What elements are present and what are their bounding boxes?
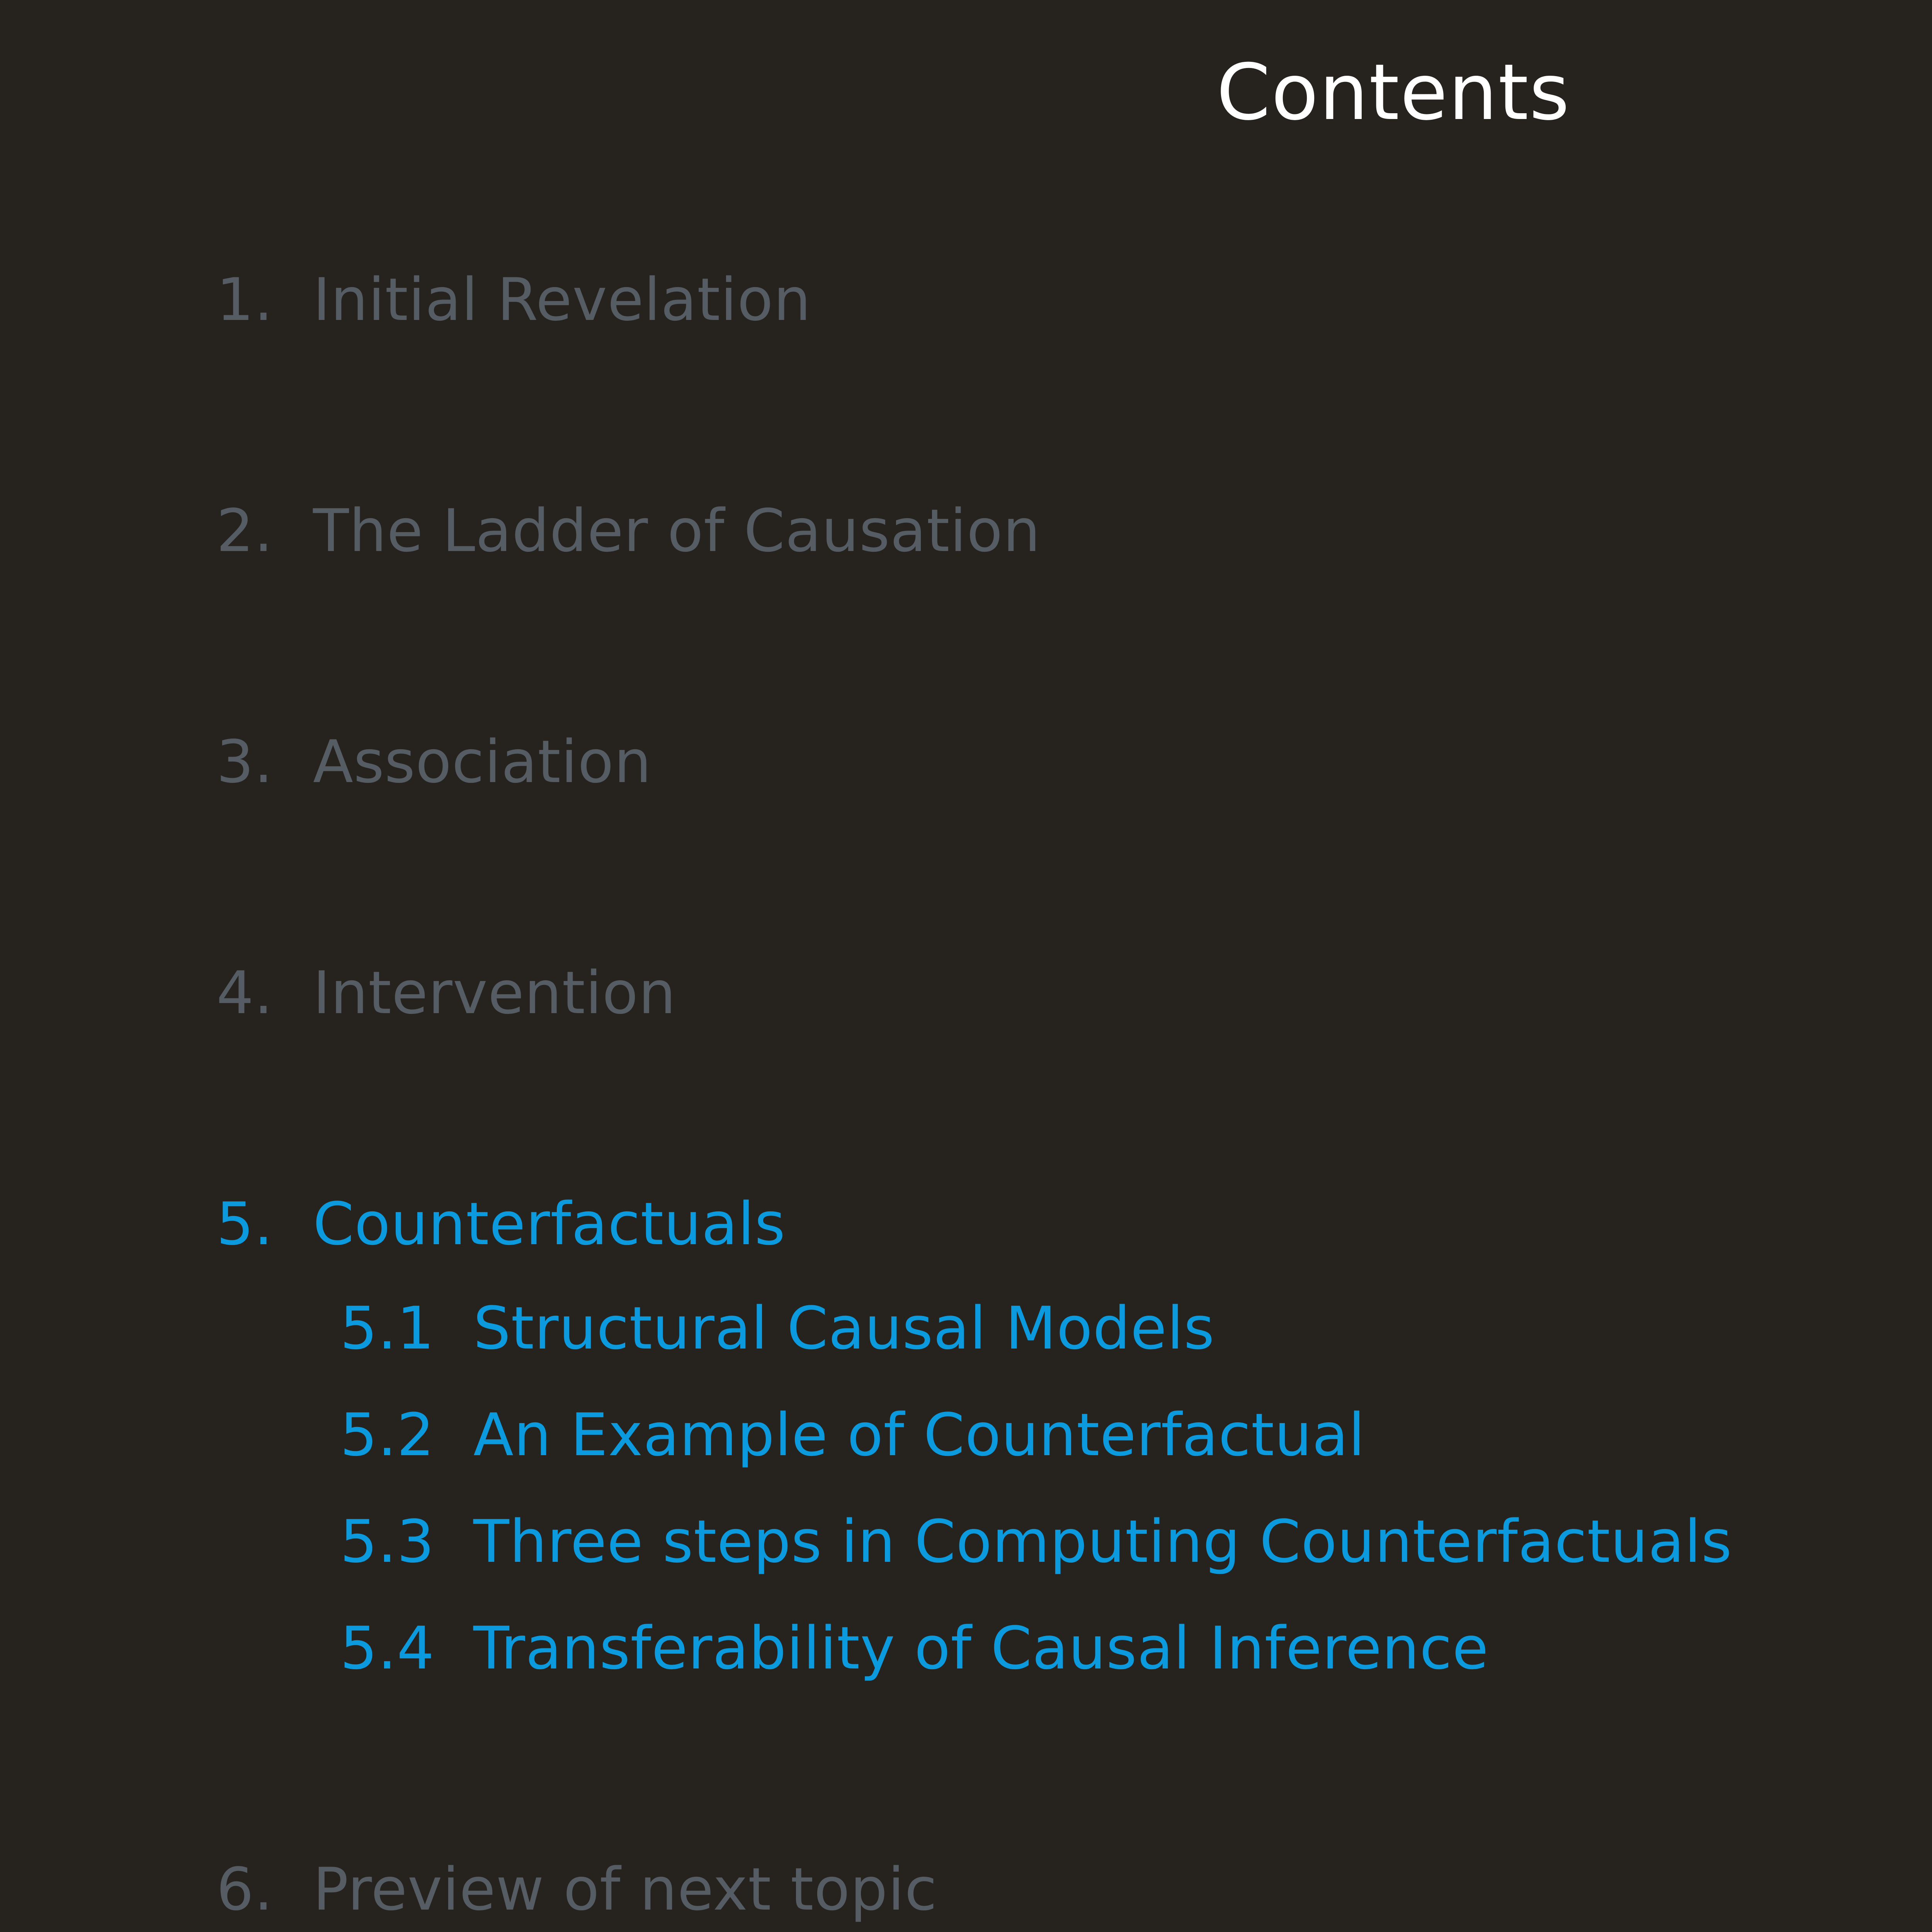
toc-subsection-number: 5.4	[340, 1619, 473, 1678]
toc-subsection-5-4[interactable]: 5.4Transferability of Causal Inference	[340, 1619, 1489, 1678]
toc-section-5[interactable]: 5.Counterfactuals	[216, 1195, 786, 1253]
toc-subsection-label: An Example of Counterfactual	[473, 1401, 1365, 1469]
toc-section-label: Association	[313, 728, 651, 796]
toc-subsection-label: Structural Causal Models	[473, 1294, 1215, 1362]
table-of-contents: 1.Initial Revelation 2.The Ladder of Cau…	[0, 270, 1932, 1932]
toc-subsection-number: 5.3	[340, 1512, 473, 1571]
toc-section-number: 6.	[216, 1860, 313, 1919]
toc-subsection-5-3[interactable]: 5.3Three steps in Computing Counterfactu…	[340, 1512, 1732, 1571]
page-title: Contents	[0, 54, 1932, 131]
toc-subsection-label: Transferability of Causal Inference	[473, 1614, 1489, 1682]
toc-section-number: 2.	[216, 502, 313, 560]
toc-section-label: Preview of next topic	[313, 1855, 937, 1923]
toc-section-4[interactable]: 4.Intervention	[216, 964, 676, 1022]
toc-subsection-5-2[interactable]: 5.2An Example of Counterfactual	[340, 1406, 1365, 1464]
toc-subsection-number: 5.2	[340, 1406, 473, 1464]
toc-section-number: 5.	[216, 1195, 313, 1253]
toc-subsection-number: 5.1	[340, 1299, 473, 1358]
toc-section-1[interactable]: 1.Initial Revelation	[216, 270, 811, 329]
toc-section-3[interactable]: 3.Association	[216, 733, 651, 791]
toc-section-2[interactable]: 2.The Ladder of Causation	[216, 502, 1041, 560]
toc-section-6[interactable]: 6.Preview of next topic	[216, 1860, 937, 1919]
toc-subsection-label: Three steps in Computing Counterfactuals	[473, 1507, 1732, 1576]
toc-section-label: The Ladder of Causation	[313, 497, 1041, 565]
presentation-slide: Contents 1.Initial Revelation 2.The Ladd…	[0, 0, 1932, 1932]
toc-section-number: 1.	[216, 270, 313, 329]
toc-section-label: Intervention	[313, 959, 676, 1027]
toc-section-number: 4.	[216, 964, 313, 1022]
toc-section-label: Initial Revelation	[313, 265, 811, 334]
toc-section-number: 3.	[216, 733, 313, 791]
toc-subsection-5-1[interactable]: 5.1Structural Causal Models	[340, 1299, 1215, 1358]
toc-section-label: Counterfactuals	[313, 1190, 786, 1258]
